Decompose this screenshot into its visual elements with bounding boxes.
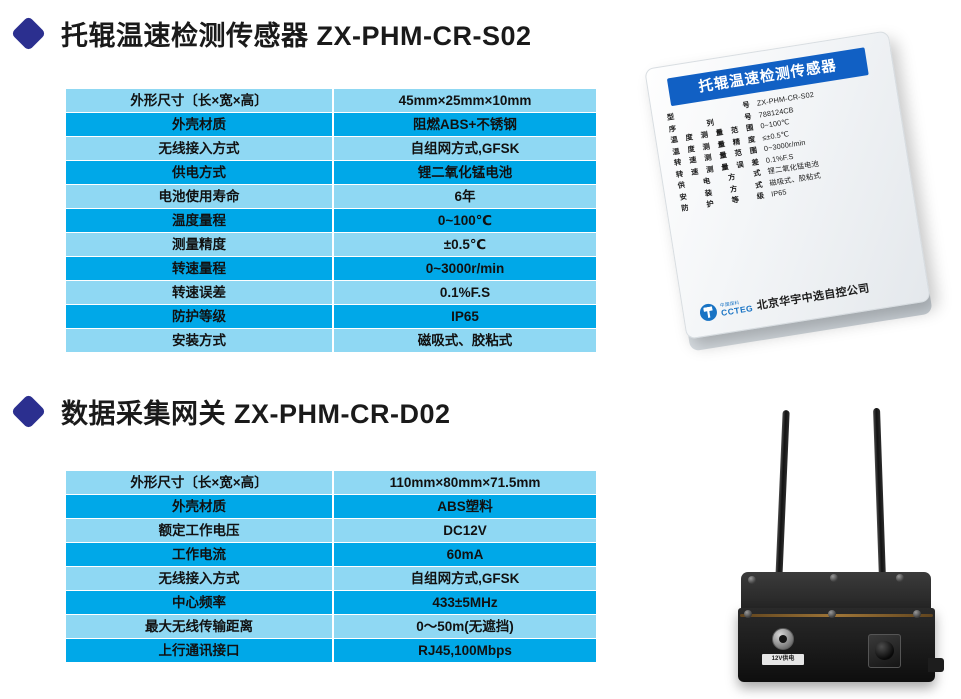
spec-table-sensor-body: 外形尺寸〔长×宽×高〕 45mm×25mm×10mm 外壳材质 阻燃ABS+不锈…	[66, 89, 596, 352]
spec-value: 110mm×80mm×71.5mm	[334, 471, 596, 494]
spec-table-sensor: 外形尺寸〔长×宽×高〕 45mm×25mm×10mm 外壳材质 阻燃ABS+不锈…	[66, 88, 596, 353]
spec-label: 温度量程	[66, 209, 334, 232]
table-row: 电池使用寿命 6年	[66, 185, 596, 208]
ccteg-wordmark: 中国煤科 CCTEG	[720, 299, 754, 317]
table-row: 外形尺寸〔长×宽×高〕 110mm×80mm×71.5mm	[66, 471, 596, 494]
gateway-case-front	[738, 608, 935, 682]
table-row: 上行通讯接口 RJ45,100Mbps	[66, 639, 596, 662]
screw-icon	[896, 574, 904, 582]
table-row: 外壳材质 ABS塑料	[66, 495, 596, 518]
table-row: 最大无线传输距离 0～50m(无遮挡)	[66, 615, 596, 638]
section-heading-gateway: 数据采集网关 ZX-PHM-CR-D02	[16, 392, 451, 431]
spec-value: 自组网方式,GFSK	[334, 137, 596, 160]
sensor-product-photo: 托辊温速检测传感器 型号 ZX-PHM-CR-S02 序列号 788124CB …	[646, 38, 961, 368]
spec-label: 供电方式	[66, 161, 334, 184]
antenna-left	[775, 410, 789, 580]
company-name: 北京华宇中选自控公司	[755, 279, 870, 313]
screw-icon	[828, 610, 836, 618]
mounting-tab	[928, 658, 944, 672]
spec-label: 工作电流	[66, 543, 334, 566]
spec-label: 安装方式	[66, 329, 334, 352]
spec-label: 电池使用寿命	[66, 185, 334, 208]
spec-table-gateway: 外形尺寸〔长×宽×高〕 110mm×80mm×71.5mm 外壳材质 ABS塑料…	[66, 470, 596, 663]
spec-label: 上行通讯接口	[66, 639, 334, 662]
table-row: 安装方式 磁吸式、胶粘式	[66, 329, 596, 352]
product-spec-sheet: 托辊温速检测传感器 ZX-PHM-CR-S02 外形尺寸〔长×宽×高〕 45mm…	[0, 0, 961, 699]
table-row: 测量精度 ±0.5℃	[66, 233, 596, 256]
spec-value: RJ45,100Mbps	[334, 639, 596, 662]
spec-value: 0.1%F.S	[334, 281, 596, 304]
spec-value: 0~3000r/min	[334, 257, 596, 280]
network-connector	[868, 634, 901, 668]
spec-label: 外壳材质	[66, 495, 334, 518]
spec-value: 60mA	[334, 543, 596, 566]
table-row: 外壳材质 阻燃ABS+不锈钢	[66, 113, 596, 136]
section-title-sensor: 托辊温速检测传感器 ZX-PHM-CR-S02	[61, 14, 532, 53]
spec-label: 无线接入方式	[66, 137, 334, 160]
spec-value: DC12V	[334, 519, 596, 542]
spec-label: 外形尺寸〔长×宽×高〕	[66, 89, 334, 112]
section-heading-sensor: 托辊温速检测传感器 ZX-PHM-CR-S02	[16, 14, 532, 53]
table-row: 无线接入方式 自组网方式,GFSK	[66, 567, 596, 590]
table-row: 温度量程 0~100℃	[66, 209, 596, 232]
table-row: 额定工作电压 DC12V	[66, 519, 596, 542]
spec-value: 6年	[334, 185, 596, 208]
gateway-seam	[740, 614, 933, 617]
screw-icon	[748, 576, 756, 584]
spec-value: IP65	[334, 305, 596, 328]
spec-value: 自组网方式,GFSK	[334, 567, 596, 590]
screw-icon	[913, 610, 921, 618]
spec-label: 转速误差	[66, 281, 334, 304]
spec-value: ABS塑料	[334, 495, 596, 518]
table-row: 工作电流 60mA	[66, 543, 596, 566]
screw-icon	[830, 574, 838, 582]
table-row: 供电方式 锂二氧化锰电池	[66, 161, 596, 184]
sensor-case: 托辊温速检测传感器 型号 ZX-PHM-CR-S02 序列号 788124CB …	[644, 30, 931, 339]
spec-value: 锂二氧化锰电池	[334, 161, 596, 184]
ccteg-logo-icon	[699, 303, 718, 322]
spec-value: 阻燃ABS+不锈钢	[334, 113, 596, 136]
spec-label: 中心频率	[66, 591, 334, 614]
table-row: 防护等级 IP65	[66, 305, 596, 328]
table-row: 转速误差 0.1%F.S	[66, 281, 596, 304]
spec-table-gateway-body: 外形尺寸〔长×宽×高〕 110mm×80mm×71.5mm 外壳材质 ABS塑料…	[66, 471, 596, 662]
diamond-bullet-icon	[11, 394, 46, 429]
spec-label: 测量精度	[66, 233, 334, 256]
power-connector	[772, 628, 794, 650]
diamond-bullet-icon	[11, 16, 46, 51]
spec-label: 防护等级	[66, 305, 334, 328]
table-row: 中心频率 433±5MHz	[66, 591, 596, 614]
sensor-label-footer: 中国煤科 CCTEG 北京华宇中选自控公司	[699, 279, 871, 323]
spec-value: 磁吸式、胶粘式	[334, 329, 596, 352]
table-row: 外形尺寸〔长×宽×高〕 45mm×25mm×10mm	[66, 89, 596, 112]
sensor-label-face: 托辊温速检测传感器 型号 ZX-PHM-CR-S02 序列号 788124CB …	[645, 32, 930, 339]
gateway-product-photo: 12V供电	[700, 400, 961, 699]
table-row: 转速量程 0~3000r/min	[66, 257, 596, 280]
spec-label: 无线接入方式	[66, 567, 334, 590]
spec-value: 0~100℃	[334, 209, 596, 232]
spec-label: 最大无线传输距离	[66, 615, 334, 638]
section-title-gateway: 数据采集网关 ZX-PHM-CR-D02	[61, 392, 451, 431]
spec-label: 外形尺寸〔长×宽×高〕	[66, 471, 334, 494]
antenna-right	[873, 408, 886, 580]
spec-label: 额定工作电压	[66, 519, 334, 542]
table-row: 无线接入方式 自组网方式,GFSK	[66, 137, 596, 160]
spec-label: 外壳材质	[66, 113, 334, 136]
spec-label: 转速量程	[66, 257, 334, 280]
spec-value: 45mm×25mm×10mm	[334, 89, 596, 112]
screw-icon	[744, 610, 752, 618]
spec-value: 0～50m(无遮挡)	[334, 615, 596, 638]
power-connector-label: 12V供电	[762, 654, 804, 665]
spec-value: 433±5MHz	[334, 591, 596, 614]
spec-value: ±0.5℃	[334, 233, 596, 256]
